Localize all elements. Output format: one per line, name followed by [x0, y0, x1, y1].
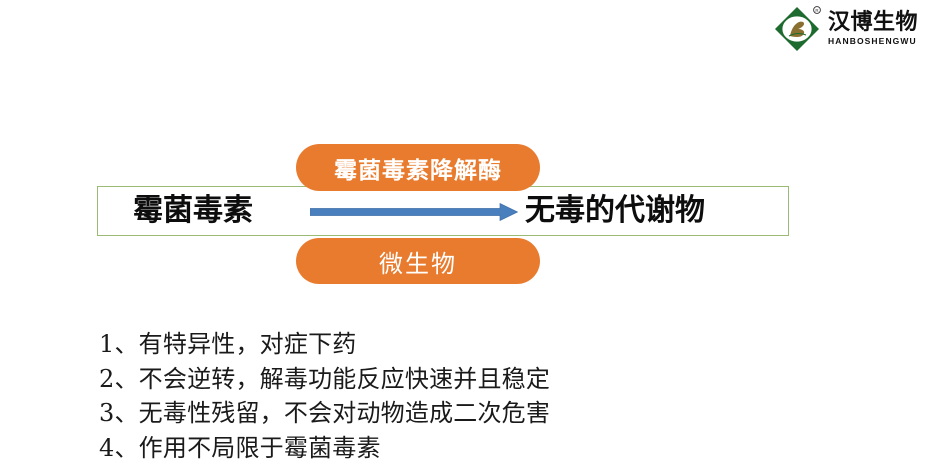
- logo-name-cn: 汉博生物: [828, 12, 918, 34]
- list-item: 4、作用不局限于霉菌毒素: [99, 431, 550, 466]
- company-logo: R 汉博生物 HANBOSHENGWU: [772, 4, 927, 54]
- catalyst-microbe-label: 微生物: [379, 244, 457, 279]
- product-label: 无毒的代谢物: [525, 190, 705, 232]
- logo-wordmark: 汉博生物 HANBOSHENGWU: [828, 12, 918, 46]
- slide-canvas: R 汉博生物 HANBOSHENGWU 霉菌毒素 无毒的代谢物 霉菌毒素降解酶 …: [0, 0, 931, 472]
- logo-diamond-icon: R: [772, 5, 822, 53]
- right-arrow-icon: [310, 203, 518, 221]
- list-item: 2、不会逆转，解毒功能反应快速并且稳定: [99, 362, 550, 397]
- reactant-label: 霉菌毒素: [133, 190, 253, 232]
- list-item: 1、有特异性，对症下药: [99, 327, 550, 362]
- feature-list: 1、有特异性，对症下药 2、不会逆转，解毒功能反应快速并且稳定 3、无毒性残留，…: [99, 327, 550, 465]
- catalyst-enzyme-label: 霉菌毒素降解酶: [334, 151, 502, 185]
- catalyst-enzyme-pill: 霉菌毒素降解酶: [296, 144, 540, 191]
- logo-name-en: HANBOSHENGWU: [828, 37, 918, 46]
- catalyst-microbe-pill: 微生物: [296, 238, 540, 284]
- list-item: 3、无毒性残留，不会对动物造成二次危害: [99, 396, 550, 431]
- svg-text:R: R: [815, 8, 818, 13]
